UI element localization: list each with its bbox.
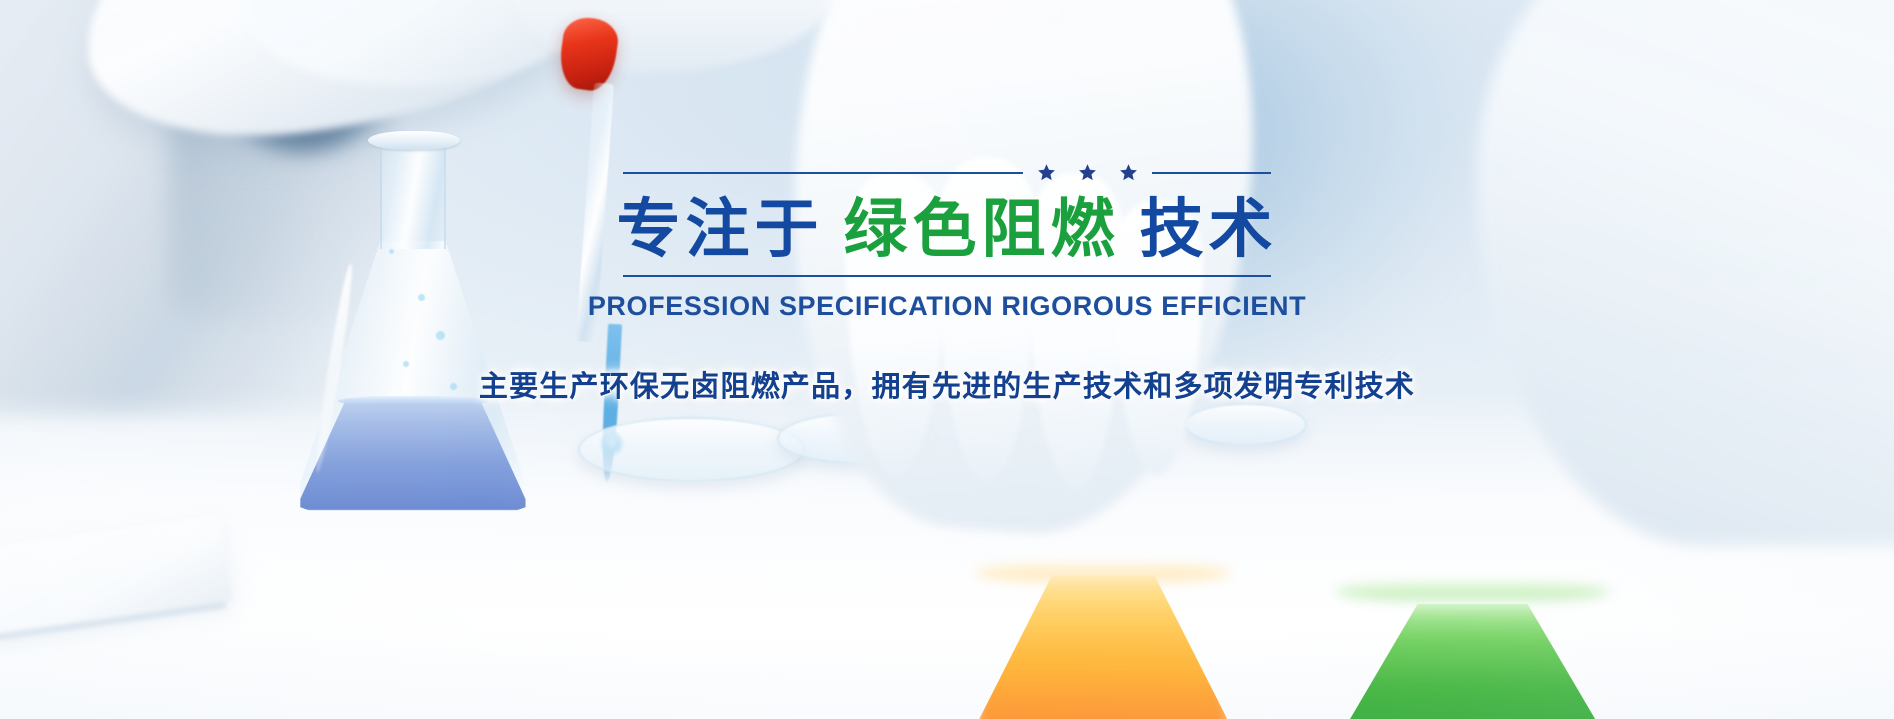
tagline-chinese: 主要生产环保无卤阻燃产品，拥有先进的生产技术和多项发明专利技术	[479, 363, 1415, 405]
rule-line-left	[623, 172, 1023, 174]
headline-part-2: 绿色阻燃	[844, 196, 1120, 263]
rule-line-right	[1152, 172, 1271, 174]
star-icon	[1078, 163, 1097, 182]
page-title: 专注于 绿色阻燃 技术	[617, 196, 1278, 263]
hero-banner: 专注于 绿色阻燃 技术 PROFESSION SPECIFICATION RIG…	[0, 0, 1894, 719]
banner-content: 专注于 绿色阻燃 技术 PROFESSION SPECIFICATION RIG…	[0, 0, 1894, 719]
subtitle-english: PROFESSION SPECIFICATION RIGOROUS EFFICI…	[588, 291, 1306, 322]
decorative-rule-bottom	[623, 275, 1271, 277]
star-icon	[1119, 163, 1138, 182]
decorative-rule-top	[623, 163, 1271, 182]
star-icon	[1037, 163, 1056, 182]
headline-part-3: 技术	[1140, 196, 1278, 263]
star-group	[1037, 163, 1138, 182]
headline-part-1: 专注于	[617, 196, 824, 263]
